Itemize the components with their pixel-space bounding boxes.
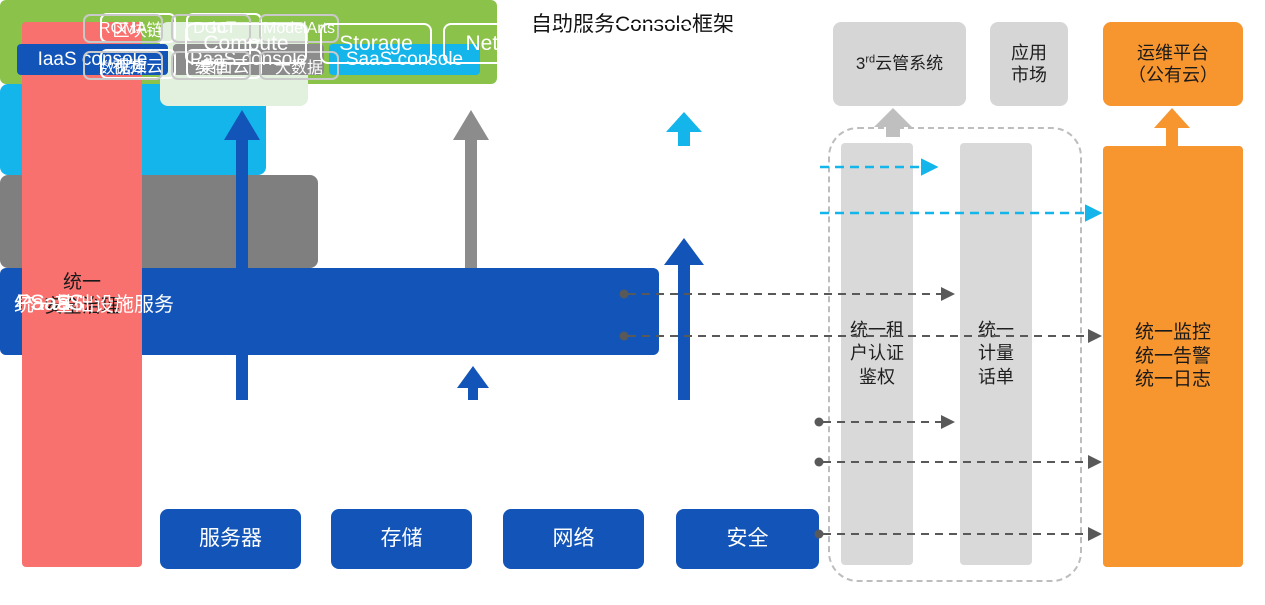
resource-security[interactable]: 安全: [676, 509, 819, 569]
ops-capabilities-label: 统一监控 统一告警 统一日志: [1135, 321, 1211, 392]
ops-capabilities-panel: 统一监控 统一告警 统一日志: [1103, 146, 1243, 567]
arrow-up-icon-ops-body-to-top: [1154, 108, 1190, 146]
shared-auth-column: 统一租 户认证 鉴权: [841, 143, 913, 565]
app-market-panel: 应用 市场: [990, 22, 1068, 106]
ops-platform-label: 运维平台 （公有云）: [1128, 42, 1218, 87]
app-market-label: 应用 市场: [1011, 42, 1047, 87]
infra-service-network[interactable]: Network: [443, 23, 565, 64]
resource-server[interactable]: 服务器: [160, 509, 301, 569]
infra-service-cce[interactable]: CCE: [578, 23, 693, 64]
ops-platform-panel: 运维平台 （公有云）: [1103, 22, 1243, 106]
shared-metering-column: 统一 计量 话单: [960, 143, 1032, 565]
resource-network[interactable]: 网络: [503, 509, 644, 569]
infrastructure-label: 统一基础设施服务: [14, 0, 174, 605]
third-party-cloud-mgmt-label: 3rd云管系统: [856, 53, 943, 74]
infrastructure-panel: 统一基础设施服务 Compute Storage Network CCE: [0, 268, 659, 355]
arrow-up-icon-infra-to-saas: [664, 238, 704, 400]
arrow-up-icon-paas-to-console: [453, 110, 489, 268]
architecture-diagram: 统一 安全治理 API网关 自助服务Console框架 IaaS console…: [0, 0, 1265, 605]
arrow-up-icon-infra-to-paas: [457, 366, 489, 400]
infra-service-compute[interactable]: Compute: [185, 23, 307, 64]
arrow-up-icon-saas-to-console: [666, 112, 702, 146]
infra-service-storage[interactable]: Storage: [320, 23, 432, 64]
third-party-cloud-mgmt-panel: 3rd云管系统: [833, 22, 966, 106]
resource-storage[interactable]: 存储: [331, 509, 472, 569]
